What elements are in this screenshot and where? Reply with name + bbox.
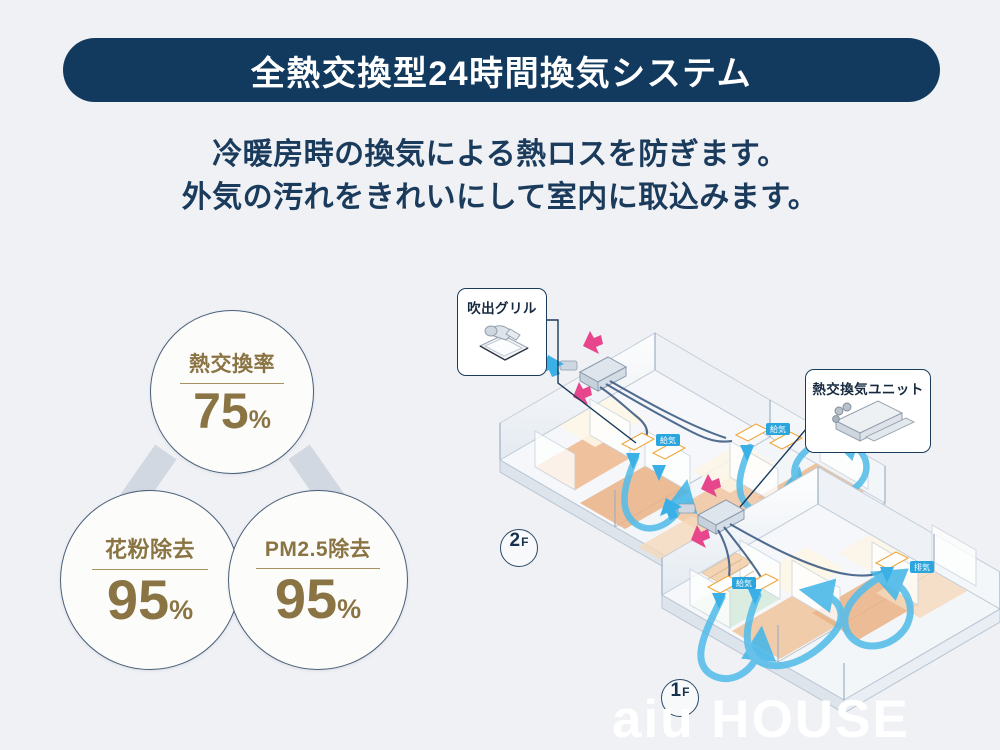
callout-heat-exchange-unit: 熱交換気ユニット: [805, 369, 931, 453]
stat-number: 95: [107, 572, 169, 628]
svg-text:給気: 給気: [660, 435, 676, 445]
stat-circle-pm25-removal: PM2.5除去 95 %: [228, 490, 408, 670]
stat-unit: %: [337, 596, 361, 623]
ceiling-grille-photo: [458, 318, 546, 370]
stat-number: 95: [275, 571, 337, 627]
stat-value: 95 %: [107, 572, 193, 628]
subtitle-line-1: 冷暖房時の換気による熱ロスを防ぎます。: [0, 134, 1000, 177]
subtitle-line-2: 外気の汚れをきれいにして室内に取込みます。: [0, 177, 1000, 220]
subtitle: 冷暖房時の換気による熱ロスを防ぎます。 外気の汚れをきれいにして室内に取込みます…: [0, 134, 1000, 219]
callout-supply-grille: 吹出グリル: [457, 288, 547, 376]
heat-exchange-unit-photo: [806, 395, 930, 447]
stat-label: 花粉除去: [105, 532, 195, 564]
stat-circle-pollen-removal: 花粉除去 95 %: [60, 490, 240, 670]
stat-label: 熱交換率: [189, 348, 275, 378]
title-banner: 全熱交換型24時間換気システム: [63, 38, 940, 102]
floor-number: 2: [510, 530, 521, 552]
statistics-group: 熱交換率 75 % 花粉除去 95 % PM2.5除去 95 %: [60, 310, 460, 670]
stat-value: 75 %: [193, 386, 271, 436]
svg-text:給気: 給気: [770, 424, 786, 434]
svg-text:給気: 給気: [736, 578, 752, 588]
page-title: 全熱交換型24時間換気システム: [251, 46, 752, 95]
stat-circle-heat-exchange: 熱交換率 75 %: [150, 310, 314, 474]
stat-number: 75: [193, 386, 249, 436]
watermark-logo: aiu HOUSE: [612, 690, 1000, 750]
svg-text:排気: 排気: [914, 562, 930, 572]
callout-label: 吹出グリル: [458, 297, 546, 317]
stat-unit: %: [249, 408, 271, 433]
stat-value: 95 %: [275, 571, 361, 627]
stat-unit: %: [169, 597, 193, 624]
floor-badge-2f: 2 F: [500, 529, 538, 567]
floor-suffix: F: [521, 535, 528, 549]
stat-label: PM2.5除去: [265, 533, 371, 563]
